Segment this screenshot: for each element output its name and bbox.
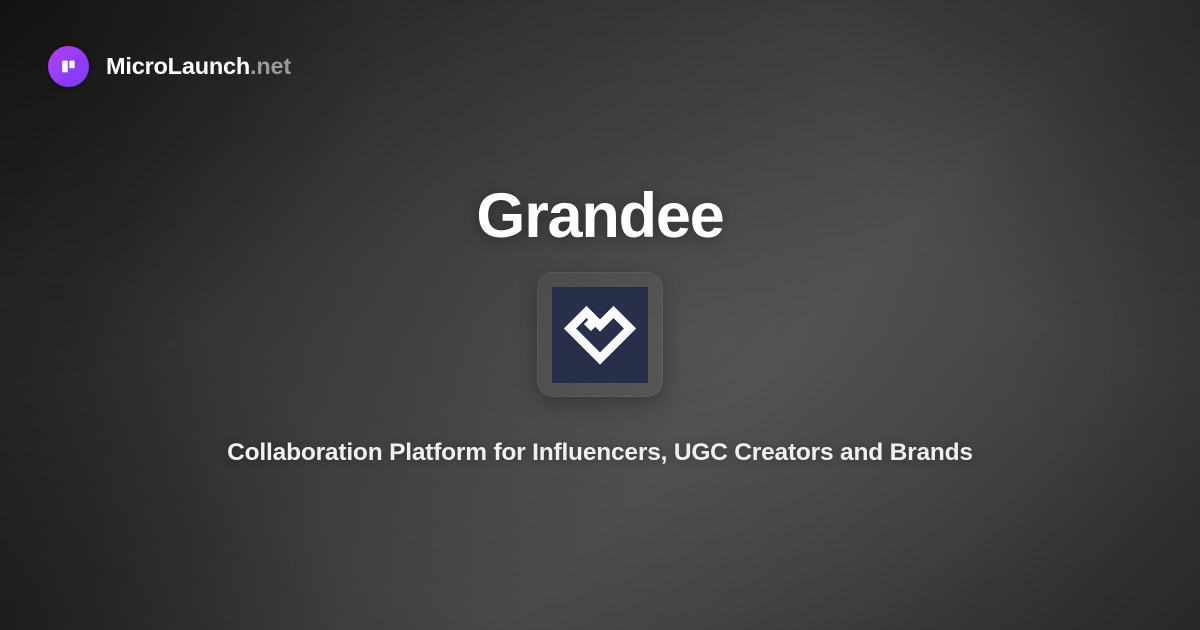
brand-header[interactable]: MicroLaunch.net [48,46,291,87]
product-tagline: Collaboration Platform for Influencers, … [0,437,1200,469]
card-center-content: Grandee Collaboration Platform for Influ… [0,0,1200,630]
og-share-card: MicroLaunch.net Grandee Collaboratio [0,0,1200,630]
grandee-heart-logo-icon [552,287,648,383]
product-title: Grandee [0,180,1200,252]
brand-wordmark-primary: MicroLaunch [106,53,250,79]
microlaunch-bars-icon [48,46,89,87]
brand-wordmark-suffix: .net [250,53,291,79]
brand-wordmark: MicroLaunch.net [106,55,291,79]
product-icon-frame [537,272,663,397]
